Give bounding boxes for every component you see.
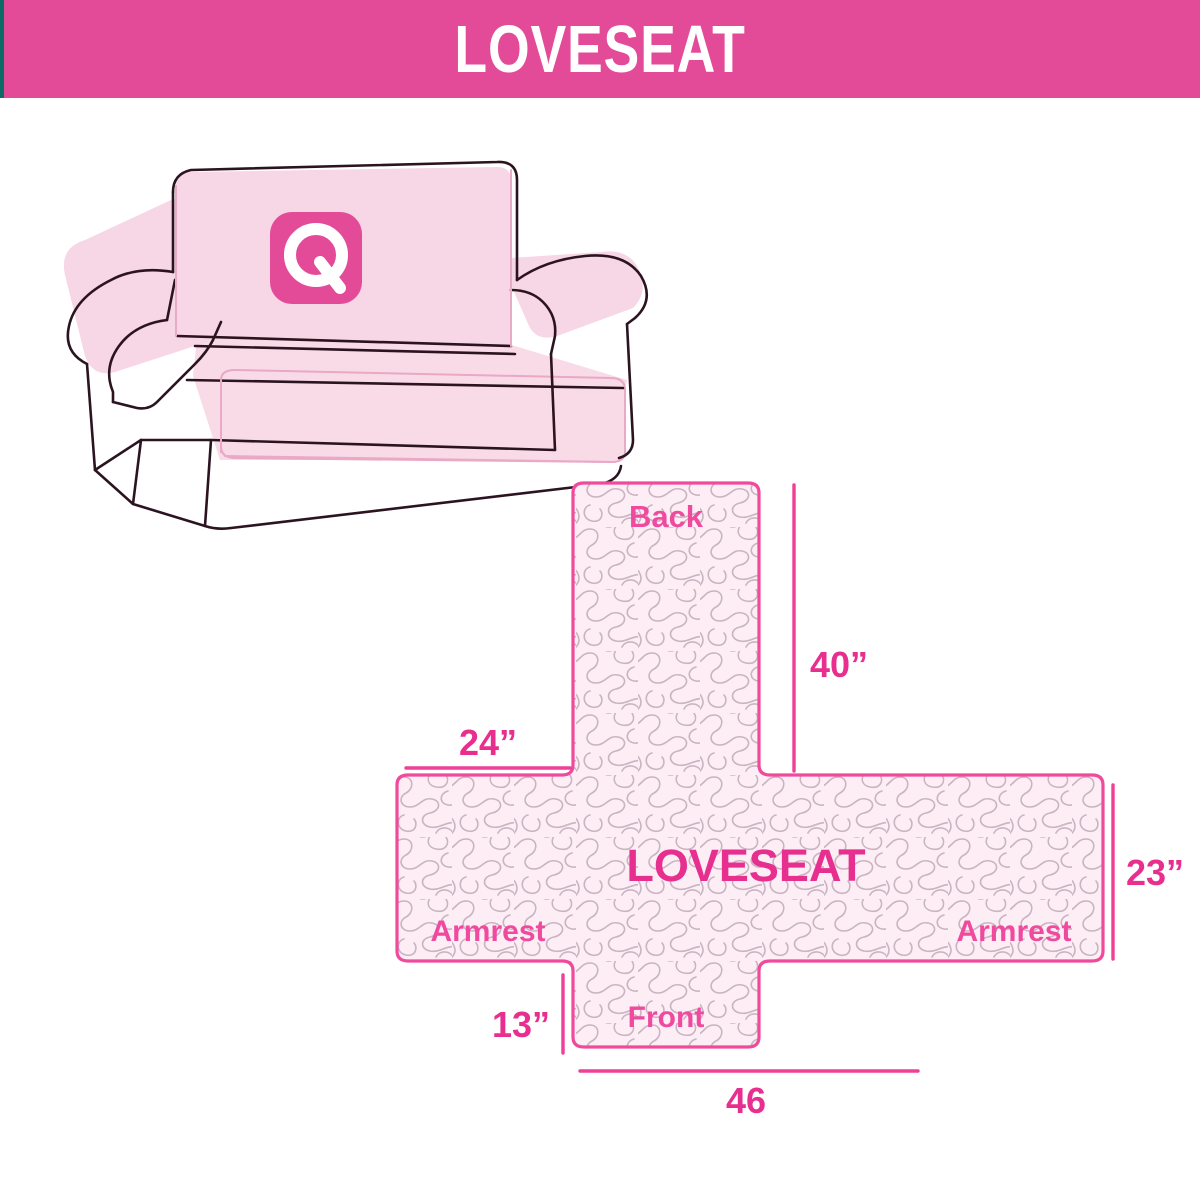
banner-accent-edge <box>0 0 4 98</box>
right-armrest-cover <box>507 251 643 337</box>
dimension-label-23: 23” <box>1126 852 1184 893</box>
dimension-back-width: 24” <box>406 722 570 768</box>
dimension-front-drop: 13” <box>492 975 563 1053</box>
dimension-front-width: 46 <box>580 1071 918 1121</box>
brand-logo-badge <box>270 212 362 304</box>
panel-label-armrest-left: Armrest <box>430 915 545 948</box>
product-dimension-diagram: LOVESEAT <box>0 0 1200 1200</box>
page-title: LOVESEAT <box>454 16 745 83</box>
panel-label-front: Front <box>628 1001 705 1034</box>
dimension-label-24: 24” <box>459 722 517 763</box>
dimension-label-13: 13” <box>492 1004 550 1045</box>
panel-label-back: Back <box>629 499 704 534</box>
page-header-banner: LOVESEAT <box>0 0 1200 98</box>
center-product-label: LOVESEAT <box>626 840 865 891</box>
flat-pattern-svg: Back Armrest Armrest Front LOVESEAT 40” … <box>390 465 1180 1125</box>
dimension-armrest-height: 23” <box>1113 785 1184 959</box>
dimension-label-40: 40” <box>810 644 868 685</box>
cover-flat-shape <box>397 483 1103 1047</box>
panel-label-armrest-right: Armrest <box>956 915 1071 948</box>
dimension-label-46: 46 <box>726 1080 766 1121</box>
flat-pattern-diagram: Back Armrest Armrest Front LOVESEAT 40” … <box>390 465 1180 1125</box>
dimension-back-height: 40” <box>794 485 868 771</box>
